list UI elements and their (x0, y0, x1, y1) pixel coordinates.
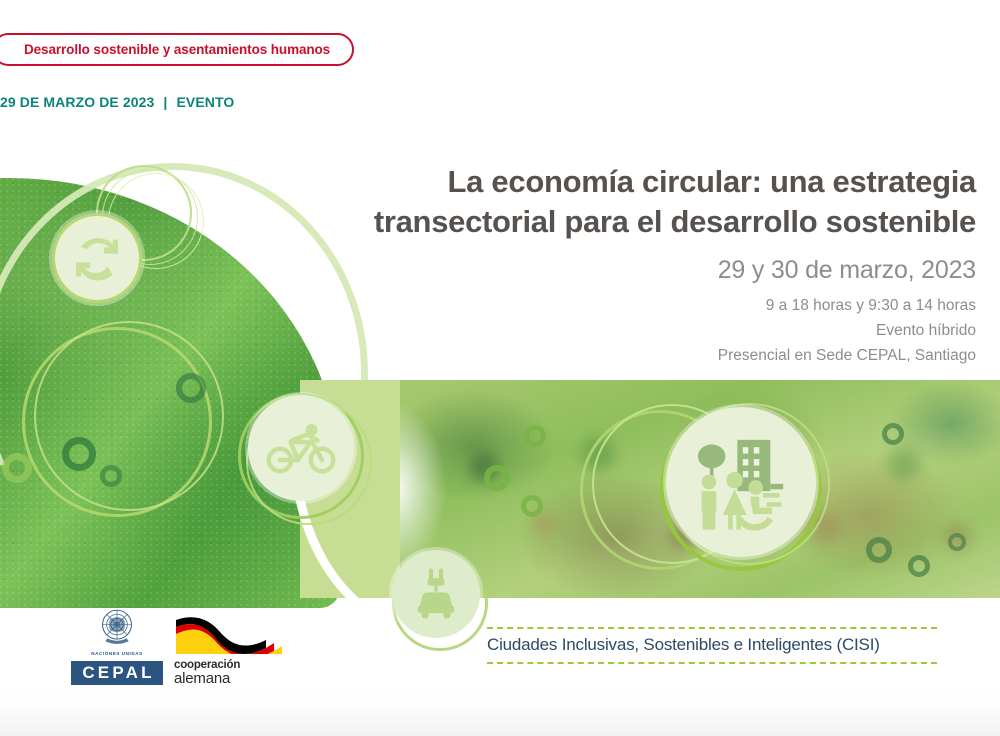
topic-tag-label: Desarrollo sostenible y asentamientos hu… (24, 42, 330, 57)
decorative-ring-left-small-c (2, 453, 32, 483)
event-date-kicker: 29 DE MARZO DE 2023 (0, 94, 154, 110)
bottom-gradient-strip (0, 690, 1000, 736)
decorative-ring-left-big-b (34, 321, 224, 511)
event-venue: Presencial en Sede CEPAL, Santiago (356, 343, 976, 368)
decorative-ring-left-small-d (100, 465, 122, 487)
page-title: La economía circular: una estrategia tra… (356, 162, 976, 241)
event-kicker: 29 DE MARZO DE 2023 | EVENTO (0, 94, 234, 110)
united-nations-caption: NACIONES UNIDAS (91, 651, 142, 656)
topic-tag[interactable]: Desarrollo sostenible y asentamientos hu… (0, 33, 354, 66)
electric-car-icon-bubble (392, 550, 480, 638)
decorative-ring-right-small-c (521, 495, 543, 517)
electric-car-icon (406, 564, 466, 624)
event-type-kicker: EVENTO (176, 94, 234, 110)
page-title-line2: transectorial para el desarrollo sosteni… (356, 202, 976, 242)
bicycle-icon-bubble (248, 395, 354, 501)
decorative-ring-left-small-a (176, 373, 206, 403)
event-promo-page: Desarrollo sostenible y asentamientos hu… (0, 0, 1000, 736)
event-hours: 9 a 18 horas y 9:30 a 14 horas (356, 293, 976, 318)
cepal-logo[interactable]: NACIONES UNIDAS CEPAL (78, 604, 156, 685)
decorative-ring-right-small-f (908, 555, 930, 577)
event-modality: Evento híbrido (356, 318, 976, 343)
decorative-ring-right-small-e (866, 537, 892, 563)
cisi-caption: Ciudades Inclusivas, Sostenibles e Intel… (487, 627, 937, 664)
event-dates: 29 y 30 de marzo, 2023 (356, 256, 976, 285)
decorative-ring-right-small-d (882, 423, 904, 445)
united-nations-emblem-icon (95, 604, 139, 648)
decorative-ring-right-small-b (484, 465, 510, 491)
page-title-line1: La economía circular: una estrategia (356, 162, 976, 202)
german-cooperation-line2: alemana (174, 671, 294, 688)
inclusive-city-icon (686, 427, 796, 537)
kicker-separator: | (163, 94, 167, 110)
bicycle-icon (265, 419, 337, 477)
recycle-icon (69, 230, 125, 286)
inclusive-city-icon-bubble (666, 407, 816, 557)
event-details: 9 a 18 horas y 9:30 a 14 horas Evento hí… (356, 293, 976, 368)
german-cooperation-logo[interactable]: cooperación alemana DEUTSCHE ZUSAMMENARB… (174, 604, 294, 696)
recycle-icon-bubble (52, 213, 142, 303)
footer-logos: NACIONES UNIDAS CEPAL cooperación aleman… (78, 604, 294, 696)
german-flag-wave-icon (174, 612, 286, 654)
cepal-wordmark: CEPAL (71, 661, 162, 685)
decorative-ring-right-small-g (948, 533, 966, 551)
decorative-ring-right-small-a (524, 425, 546, 447)
decorative-ring-left-small-b (62, 437, 96, 471)
